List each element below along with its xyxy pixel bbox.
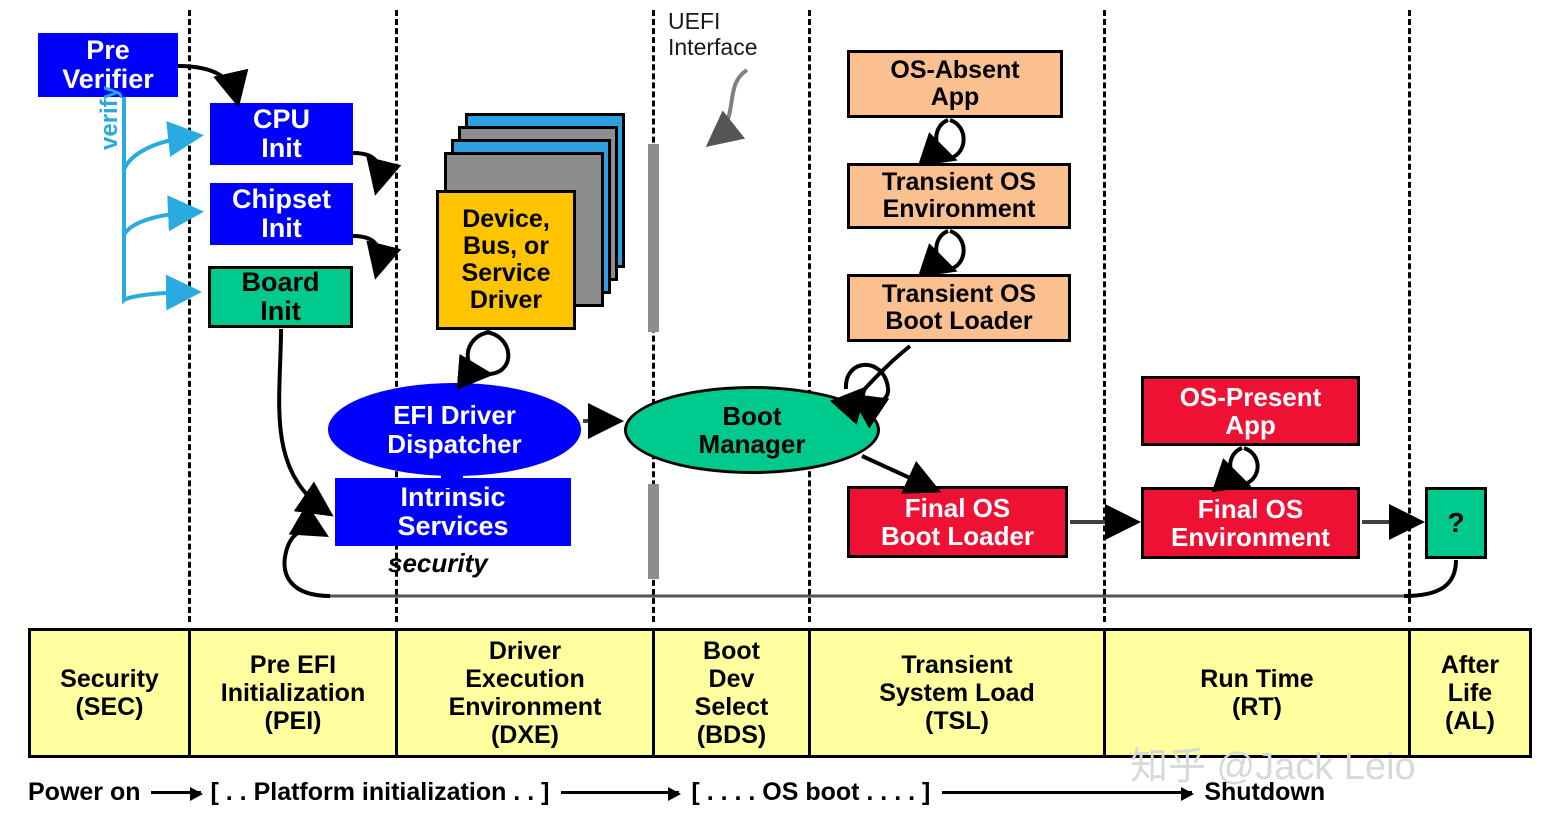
verify-label: verify — [96, 86, 124, 150]
edge-transientosenv-bootloader-loop-a — [936, 231, 950, 269]
edge-ospresent-finalosenv-loop-b — [1244, 448, 1258, 484]
phase-cell-sec[interactable]: Security (SEC) — [31, 631, 191, 755]
node-after-life[interactable]: ? — [1425, 487, 1487, 559]
node-efi-driver-dispatcher[interactable]: EFI Driver Dispatcher — [328, 383, 581, 476]
timeline-power-on: Power on — [28, 778, 141, 807]
edge-cpuinit-to-chipsetinit — [353, 153, 379, 188]
node-cpu-init[interactable]: CPU Init — [210, 103, 353, 165]
timeline-arrow-2 — [561, 791, 679, 794]
edge-ospresent-finalosenv-loop-a — [1230, 448, 1244, 484]
phase-bar: Security (SEC) Pre EFI Initialization (P… — [28, 628, 1532, 758]
edge-afterlife-to-return-rail — [1404, 560, 1456, 596]
node-transient-os-environment[interactable]: Transient OS Environment — [847, 163, 1071, 229]
uefi-interface-label: UEFI Interface — [668, 8, 758, 61]
edge-bootmanager-self-loop — [846, 365, 888, 389]
phase-divider-sec-pei — [188, 10, 191, 622]
phase-cell-tsl[interactable]: Transient System Load (TSL) — [811, 631, 1106, 755]
phase-divider-bds-tsl — [808, 10, 811, 622]
edge-return-rail-to-intrinsicservices — [285, 529, 330, 596]
phase-divider-rt-al — [1408, 10, 1411, 622]
phase-cell-al[interactable]: After Life (AL) — [1411, 631, 1529, 755]
node-os-absent-app[interactable]: OS-Absent App — [847, 50, 1063, 118]
edge-bootmanager-self-loop-2 — [856, 388, 888, 403]
phase-cell-bds[interactable]: Boot Dev Select (BDS) — [655, 631, 811, 755]
node-os-present-app[interactable]: OS-Present App — [1141, 376, 1360, 446]
timeline-arrow-3 — [942, 791, 1192, 794]
uefi-interface-bar-upper — [648, 144, 659, 332]
uefi-boot-flow-diagram: Pre Verifier verify CPU Init Chipset Ini… — [0, 0, 1558, 823]
timeline-os-boot: [ . . . . OS boot . . . . ] — [691, 778, 930, 807]
phase-cell-rt[interactable]: Run Time (RT) — [1106, 631, 1411, 755]
node-device-bus-service-driver[interactable]: Device, Bus, or Service Driver — [436, 190, 576, 330]
edge-boardinit-to-intrinsicservices — [279, 329, 327, 512]
node-boot-manager[interactable]: Boot Manager — [624, 386, 880, 474]
edge-bootmanager-to-finalosbootloader — [862, 456, 934, 489]
timeline-platform-init: [ . . Platform initialization . . ] — [211, 778, 550, 807]
node-chipset-init[interactable]: Chipset Init — [210, 183, 353, 245]
timeline-arrow-1 — [151, 791, 201, 794]
timeline: Power on [ . . Platform initialization .… — [28, 770, 1538, 815]
node-final-os-environment[interactable]: Final OS Environment — [1141, 487, 1360, 559]
security-label: security — [388, 548, 488, 579]
edge-driver-self-loop-2 — [486, 332, 508, 374]
uefi-interface-bar-lower — [648, 484, 659, 579]
node-board-init[interactable]: Board Init — [208, 266, 353, 328]
phase-divider-tsl-rt — [1103, 10, 1106, 622]
edge-osabsent-transientos-loop-a — [936, 120, 950, 158]
node-intrinsic-services[interactable]: Intrinsic Services — [335, 478, 571, 546]
edge-driver-self-loop — [468, 332, 490, 374]
phase-cell-dxe[interactable]: Driver Execution Environment (DXE) — [398, 631, 655, 755]
node-transient-os-boot-loader[interactable]: Transient OS Boot Loader — [847, 274, 1071, 342]
timeline-shutdown: Shutdown — [1204, 778, 1325, 807]
edge-transientosenv-bootloader-loop-b — [950, 231, 964, 269]
node-final-os-boot-loader[interactable]: Final OS Boot Loader — [847, 486, 1068, 558]
edge-verify-chipsetinit — [124, 150, 196, 235]
edge-verify-cpuinit — [124, 97, 196, 170]
uefi-interface-callout-arrow — [712, 70, 747, 142]
edge-preverifier-to-cpuinit — [178, 66, 237, 100]
edge-chipsetinit-to-boardinit — [353, 236, 379, 272]
edge-verify-boardinit — [124, 195, 194, 300]
phase-cell-pei[interactable]: Pre EFI Initialization (PEI) — [191, 631, 398, 755]
edge-osabsent-transientos-loop-b — [950, 120, 964, 158]
edge-bootmanager-to-transientosbootloader — [862, 346, 910, 392]
